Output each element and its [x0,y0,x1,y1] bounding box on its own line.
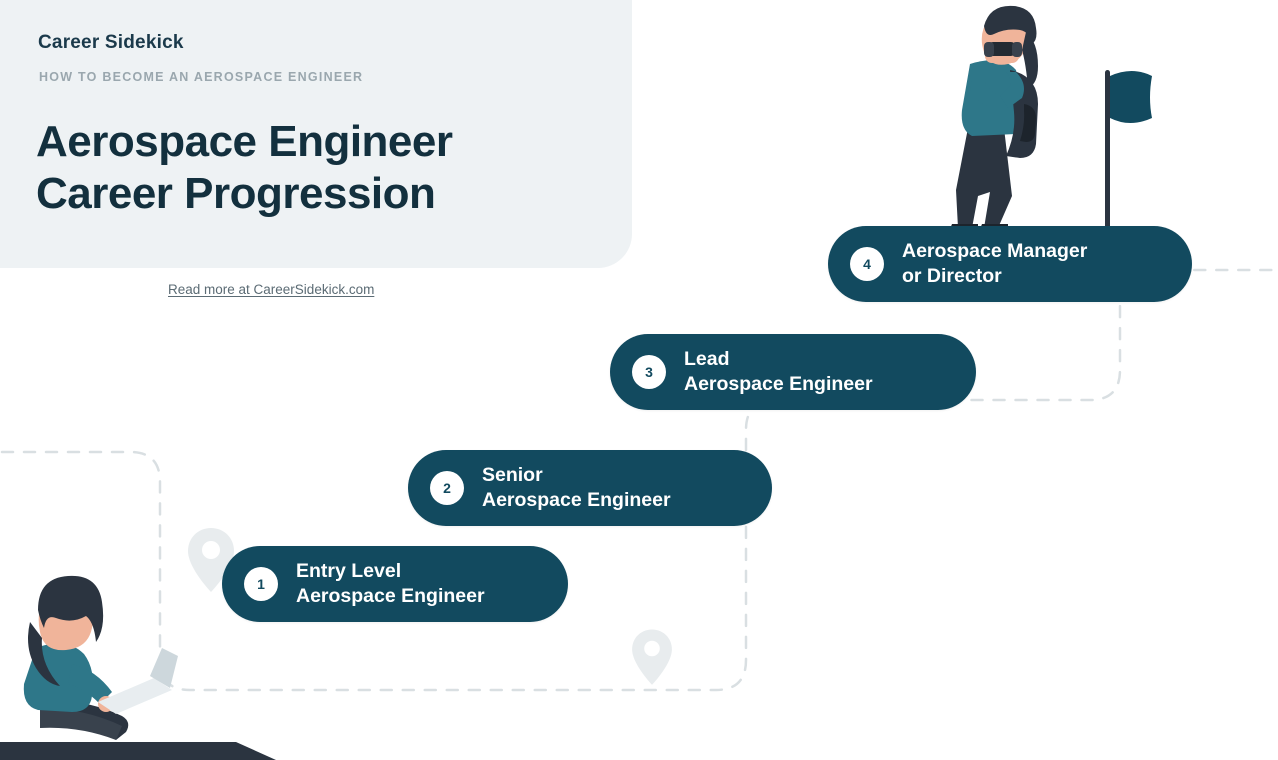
step-pill-1[interactable]: 1 Entry Level Aerospace Engineer [222,546,568,622]
step-number-4: 4 [850,247,884,281]
brand-name-rest: Sidekick [99,32,183,53]
woman-with-binoculars-icon [900,0,1100,240]
step-pill-2[interactable]: 2 Senior Aerospace Engineer [408,450,772,526]
brand-logo: Career Sidekick [38,32,184,54]
infographic-canvas: Career Sidekick HOW TO BECOME AN AEROSPA… [0,0,1278,760]
step-number-1: 1 [244,567,278,601]
eyebrow-text: HOW TO BECOME AN AEROSPACE ENGINEER [39,70,363,84]
location-pin-mid-icon [628,626,676,690]
step-pill-3[interactable]: 3 Lead Aerospace Engineer [610,334,976,410]
brand-name-bold: Career [38,32,99,53]
step-pill-4[interactable]: 4 Aerospace Manager or Director [828,226,1192,302]
step-label-1: Entry Level Aerospace Engineer [296,559,485,609]
step-number-2: 2 [430,471,464,505]
read-more-link[interactable]: Read more at CareerSidekick.com [168,282,374,297]
step-label-3: Lead Aerospace Engineer [684,347,873,397]
page-title: Aerospace Engineer Career Progression [36,116,616,220]
step-label-2: Senior Aerospace Engineer [482,463,671,513]
step-label-4: Aerospace Manager or Director [902,239,1087,289]
step-number-3: 3 [632,355,666,389]
